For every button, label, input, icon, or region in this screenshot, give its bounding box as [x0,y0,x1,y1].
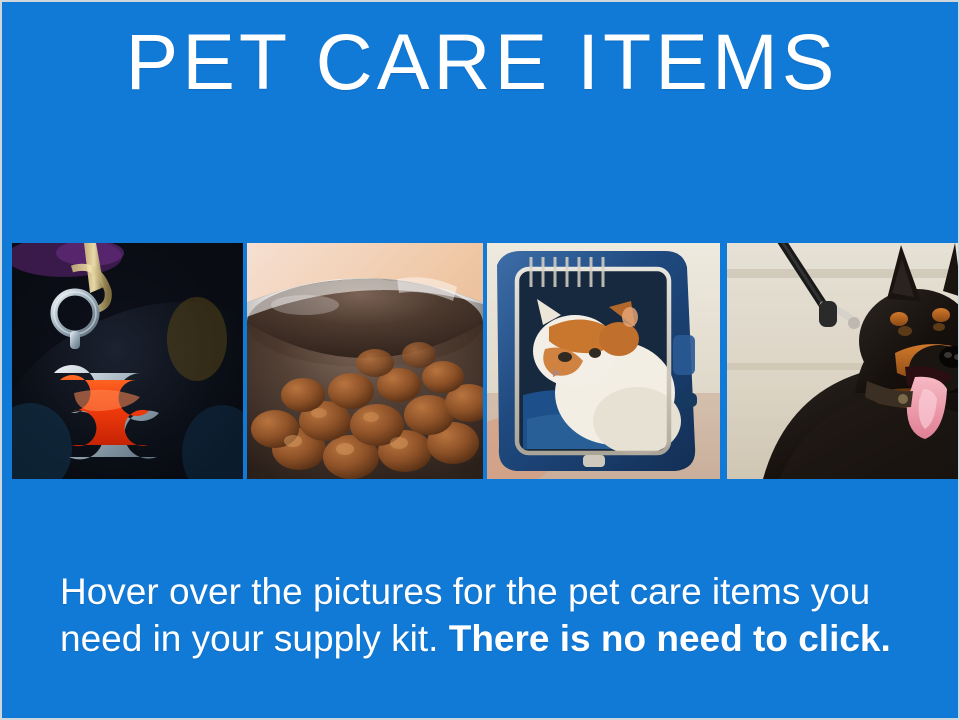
caption-text: Hover over the pictures for the pet care… [60,568,910,662]
food-bowl-photo-icon [247,243,483,479]
caption-bold: There is no need to click. [449,618,891,659]
slide-canvas: PET CARE ITEMS [0,0,960,720]
page-title: PET CARE ITEMS [2,20,960,104]
pet-carrier-photo-icon [487,243,720,479]
leash-photo-icon [727,243,960,479]
picture-leash[interactable] [727,243,960,479]
picture-pet-carrier[interactable] [487,243,720,479]
picture-strip [2,243,960,479]
picture-pet-id-tag[interactable] [12,243,243,479]
pet-id-tag-photo-icon [12,243,243,479]
picture-food-bowl[interactable] [247,243,483,479]
